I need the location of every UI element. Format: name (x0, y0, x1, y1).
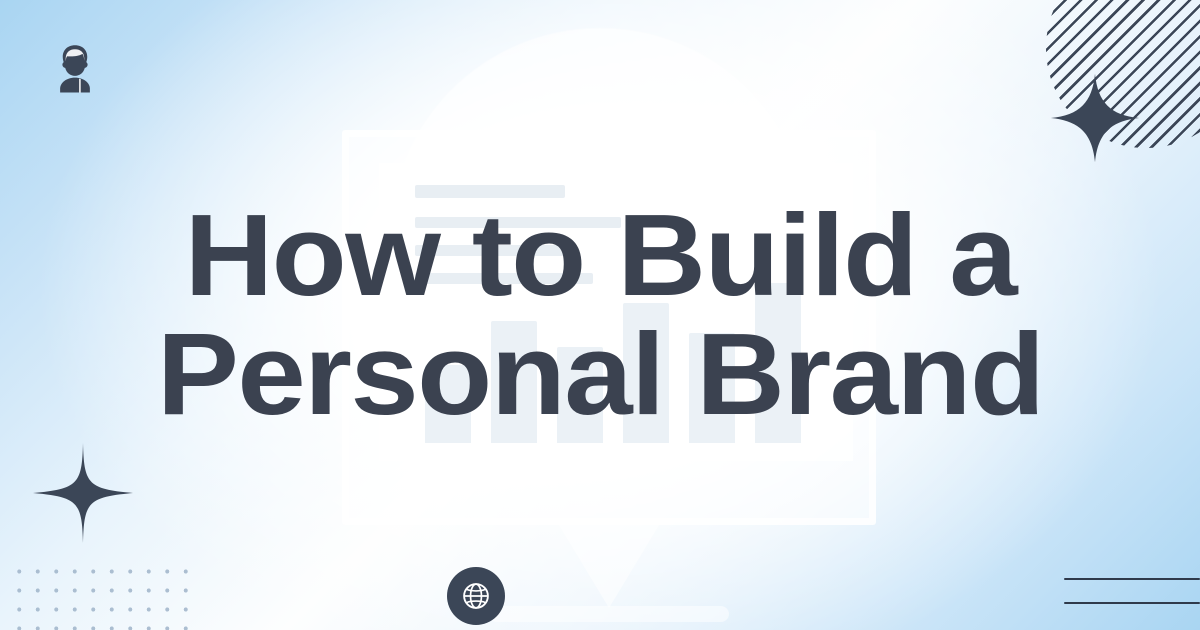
screen-chart-bar (557, 347, 603, 443)
screen-text-line (415, 217, 621, 228)
screen-text-line (415, 185, 565, 198)
screen-chart-bar (623, 303, 669, 443)
monitor-base (489, 606, 729, 622)
monitor-body (342, 130, 876, 525)
sparkle-icon (33, 443, 133, 543)
dot-grid-pattern (8, 560, 194, 630)
globe-icon (459, 579, 493, 613)
sparkle-icon (1049, 72, 1141, 164)
decorative-line (1064, 578, 1200, 580)
screen-text-line (415, 273, 593, 284)
monitor-screen (379, 163, 853, 461)
screen-chart-bar (755, 283, 801, 443)
user-avatar-icon (47, 40, 103, 96)
decorative-line (1064, 602, 1200, 604)
screen-chart-bar (491, 321, 537, 443)
monitor-neck (557, 522, 661, 608)
globe-icon-badge (447, 567, 505, 625)
screen-chart-bar (425, 365, 471, 443)
social-card-canvas: How to Build a Personal Brand (0, 0, 1200, 630)
desktop-monitor-illustration (342, 130, 876, 530)
screen-chart-bar (689, 333, 735, 443)
decorative-line-stack (1064, 578, 1200, 604)
screen-text-line (415, 245, 565, 256)
